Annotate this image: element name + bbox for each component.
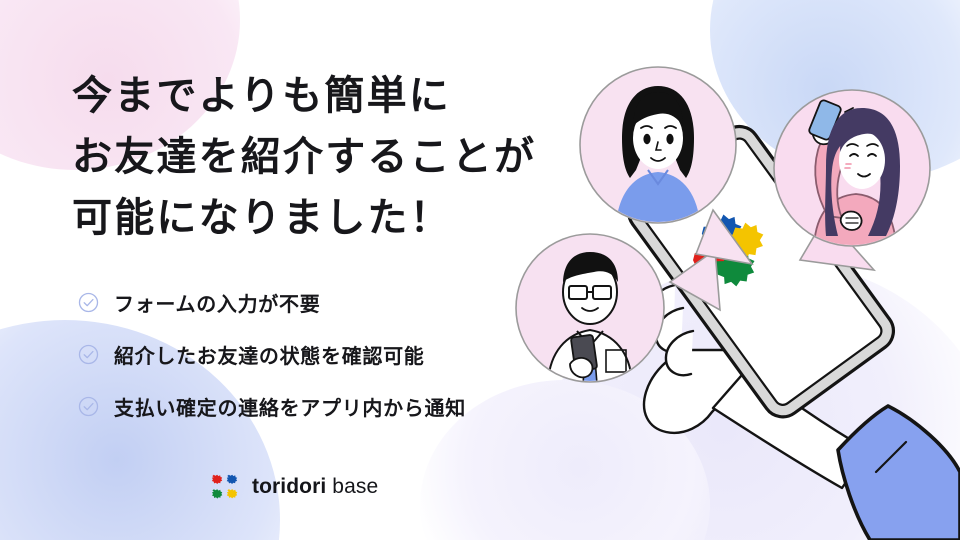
- headline-line-1: 今までよりも簡単に: [72, 66, 536, 127]
- headline: 今までよりも簡単に お友達を紹介することが 可能になりました！: [72, 66, 536, 248]
- feature-list-item-1: フォームの入力が不要: [78, 288, 466, 317]
- feature-list-item-1-label: フォームの入力が不要: [114, 288, 320, 317]
- illustration-svg: [470, 20, 960, 540]
- feature-list: フォームの入力が不要 紹介したお友達の状態を確認可能 支払い確定の連絡をアプリ内…: [78, 288, 466, 421]
- feature-list-item-3-label: 支払い確定の連絡をアプリ内から通知: [114, 392, 466, 421]
- man-hand: [570, 358, 593, 377]
- feature-list-item-2: 紹介したお友達の状態を確認可能: [78, 340, 466, 369]
- selfie-fist: [841, 212, 862, 231]
- brand-logo-text: toridori base: [252, 475, 378, 499]
- bob-eye-left: [643, 134, 650, 144]
- bob-eye-right: [666, 134, 673, 144]
- headline-line-3: 可能になりました！: [72, 188, 536, 249]
- feature-list-item-2-label: 紹介したお友達の状態を確認可能: [114, 340, 425, 369]
- brand-logo-name: toridori: [252, 475, 326, 498]
- brand-logo: toridori base: [210, 472, 378, 502]
- feature-list-item-3: 支払い確定の連絡をアプリ内から通知: [78, 392, 466, 421]
- sleeve-cuff: [838, 406, 960, 540]
- check-circle-icon: [78, 396, 99, 417]
- check-circle-icon: [78, 344, 99, 365]
- check-circle-icon: [78, 292, 99, 313]
- toridori-logo-mark-icon: [210, 472, 240, 502]
- brand-logo-product: base: [332, 475, 378, 498]
- headline-line-2: お友達を紹介することが: [72, 127, 536, 188]
- illustration-hand-holding-phone: [470, 20, 960, 540]
- promo-slide: 今までよりも簡単に お友達を紹介することが 可能になりました！ フォームの入力が…: [0, 0, 960, 540]
